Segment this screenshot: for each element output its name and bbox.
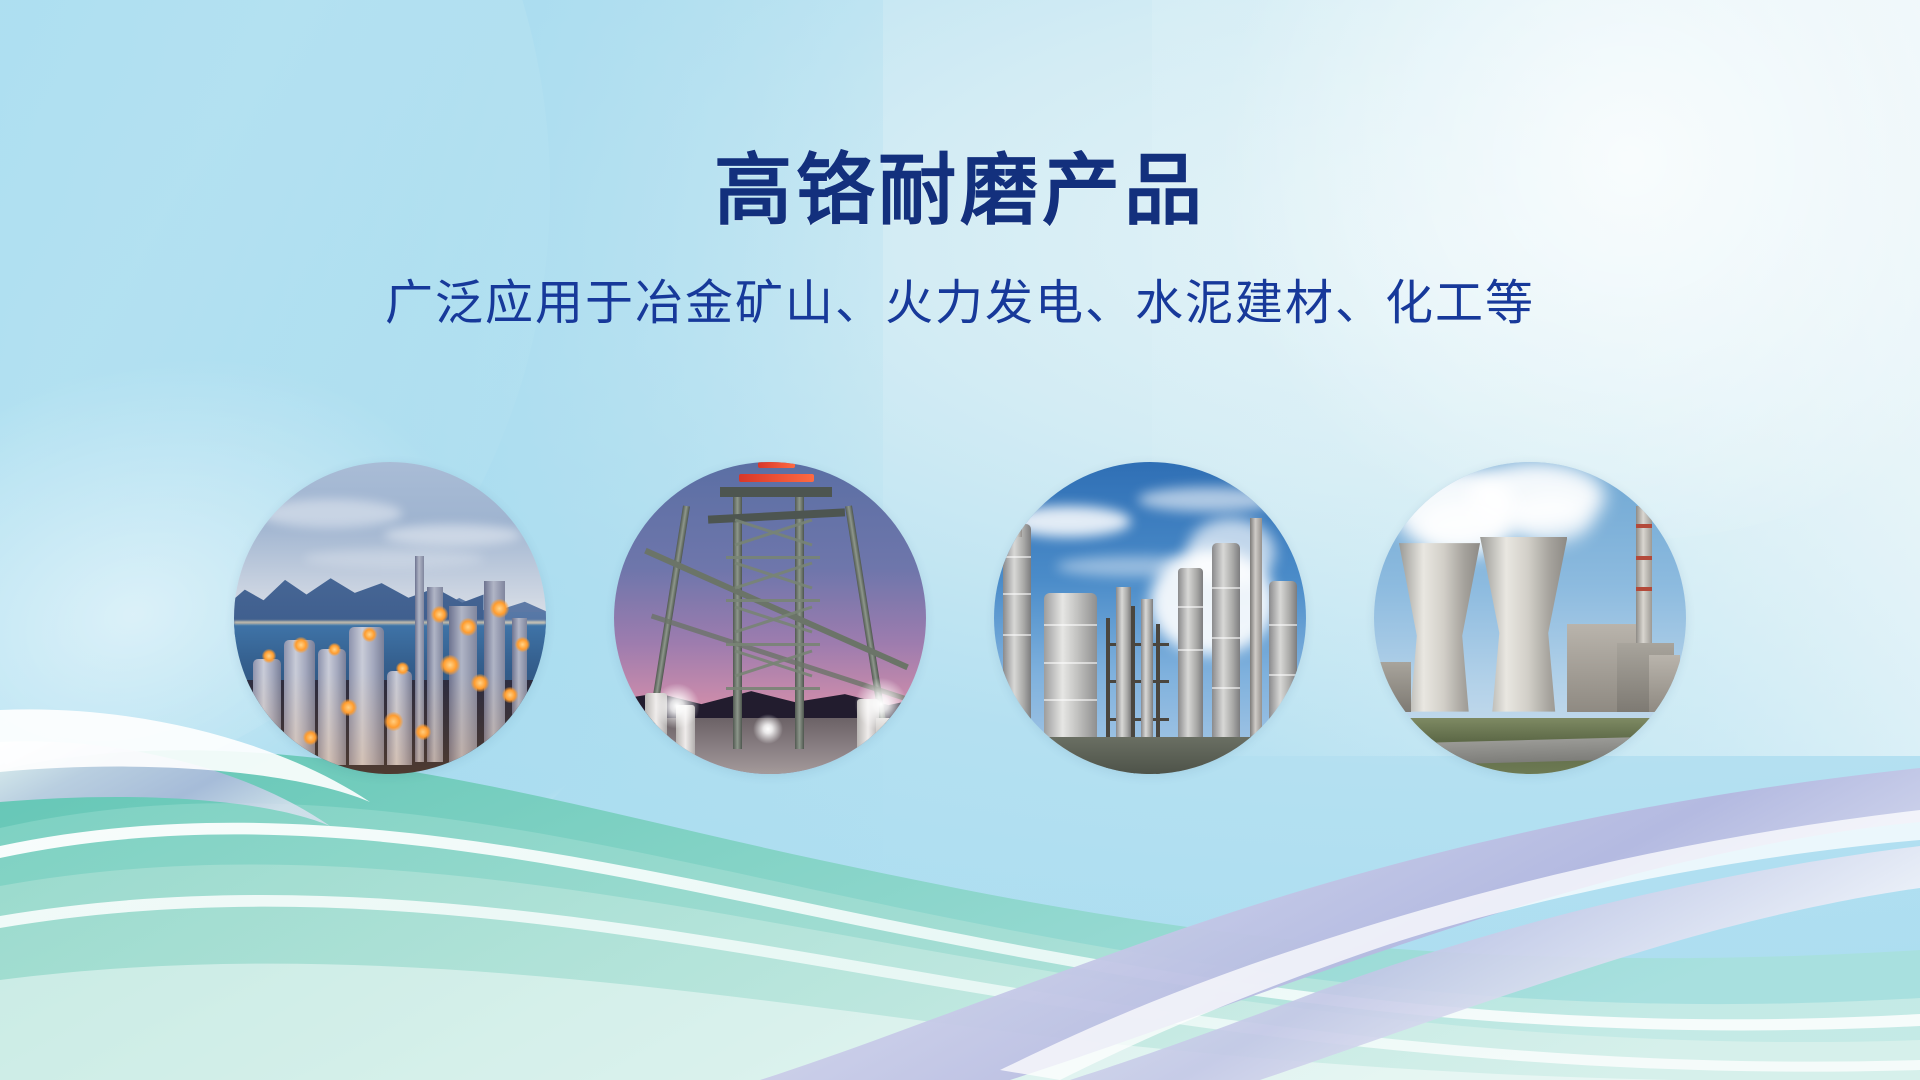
headline-block: 高铬耐磨产品 广泛应用于冶金矿山、火力发电、水泥建材、化工等 [0,148,1920,334]
photo-circle-power-plant [1374,462,1686,774]
photo-circle-row [0,462,1920,792]
banner-stage: 高铬耐磨产品 广泛应用于冶金矿山、火力发电、水泥建材、化工等 [0,0,1920,1080]
photo-circle-chemical-refinery [994,462,1306,774]
photo-circle-cement-plant [234,462,546,774]
photo-circle-mine-headframe [614,462,926,774]
page-subtitle: 广泛应用于冶金矿山、火力发电、水泥建材、化工等 [0,274,1920,334]
page-title: 高铬耐磨产品 [0,148,1920,232]
